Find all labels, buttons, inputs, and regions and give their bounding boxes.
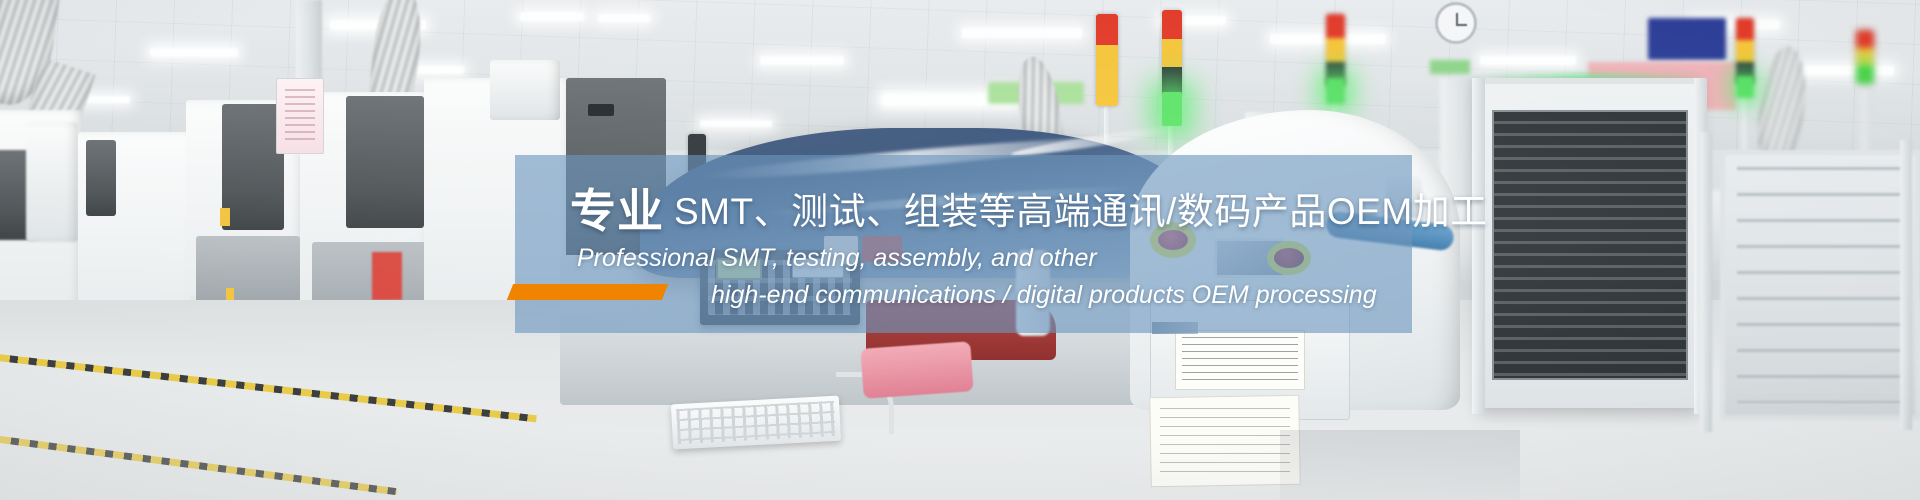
ceiling-light bbox=[1480, 56, 1576, 65]
banner-headline: 专业SMT、测试、组装等高端通讯/数码产品OEM加工 bbox=[570, 175, 1488, 241]
machine-vent bbox=[588, 104, 614, 116]
banner-subtitle-line2: high-end communications / digital produc… bbox=[711, 281, 1377, 310]
factory-banner: 专业SMT、测试、组装等高端通讯/数码产品OEM加工 Professional … bbox=[0, 0, 1920, 500]
tower-green-lamp bbox=[1162, 92, 1182, 126]
foreground-shadow bbox=[1280, 430, 1520, 500]
smt-machine bbox=[490, 60, 560, 120]
cart-frame bbox=[1700, 132, 1712, 432]
green-board bbox=[1430, 60, 1470, 74]
machine-screen bbox=[276, 78, 324, 154]
signal-tower-light bbox=[1736, 18, 1754, 84]
signal-tower-light bbox=[1326, 14, 1345, 86]
rack-shelves bbox=[1492, 110, 1688, 380]
banner-text-overlay: 专业SMT、测试、组装等高端通讯/数码产品OEM加工 Professional … bbox=[515, 155, 1412, 333]
tower-green-lamp bbox=[1736, 76, 1754, 98]
machine-document-lines bbox=[1160, 408, 1290, 476]
ceiling-light bbox=[760, 56, 844, 65]
overhead-sign bbox=[1648, 18, 1726, 60]
ceiling-light bbox=[598, 14, 650, 22]
ceiling-light bbox=[150, 48, 238, 57]
ceiling-light bbox=[1790, 66, 1894, 75]
ceiling-light bbox=[962, 28, 1082, 38]
cart-frame bbox=[1900, 140, 1912, 430]
banner-subtitle-line1: Professional SMT, testing, assembly, and… bbox=[577, 244, 1097, 273]
smt-machine bbox=[26, 122, 78, 242]
yellow-marker bbox=[220, 208, 230, 226]
machine-panel bbox=[86, 140, 116, 216]
machine-panel bbox=[222, 104, 284, 230]
tower-green-lamp bbox=[1326, 78, 1345, 104]
storage-cart bbox=[1720, 150, 1920, 420]
signal-tower-light bbox=[1096, 14, 1118, 106]
machine-label bbox=[1175, 330, 1305, 390]
rack-post bbox=[1472, 78, 1485, 414]
machine-panel bbox=[346, 96, 424, 228]
wall-clock-icon bbox=[1435, 2, 1477, 44]
ceiling-light bbox=[520, 12, 584, 21]
keyboard bbox=[671, 396, 841, 450]
signal-tower-light bbox=[1856, 30, 1874, 84]
signal-tower-light bbox=[1162, 10, 1182, 96]
red-tag bbox=[372, 252, 402, 300]
headline-emphasis: 专业 bbox=[570, 185, 664, 237]
accent-bar bbox=[507, 284, 668, 300]
pink-material bbox=[860, 341, 973, 399]
ceiling-light bbox=[700, 120, 772, 127]
headline-rest: SMT、测试、组装等高端通讯/数码产品OEM加工 bbox=[674, 191, 1488, 232]
